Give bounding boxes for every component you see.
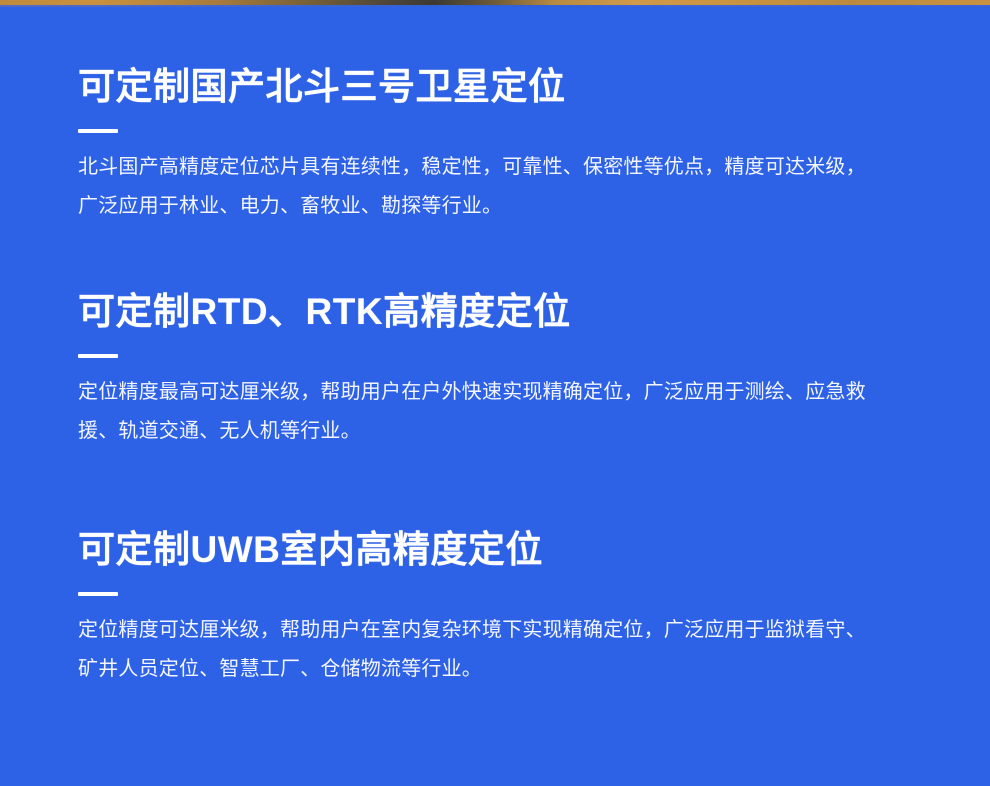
feature-panel: 可定制国产北斗三号卫星定位 北斗国产高精度定位芯片具有连续性，稳定性，可靠性、保… [0,7,990,786]
section-title: 可定制国产北斗三号卫星定位 [78,65,868,109]
section-title: 可定制UWB室内高精度定位 [78,528,878,572]
section-description: 定位精度最高可达厘米级，帮助用户在户外快速实现精确定位，广泛应用于测绘、应急救援… [78,373,878,451]
feature-section-rtd-rtk: 可定制RTD、RTK高精度定位 定位精度最高可达厘米级，帮助用户在户外快速实现精… [78,290,878,451]
section-description: 定位精度可达厘米级，帮助用户在室内复杂环境下实现精确定位，广泛应用于监狱看守、矿… [78,611,878,689]
section-description: 北斗国产高精度定位芯片具有连续性，稳定性，可靠性、保密性等优点，精度可达米级，广… [78,148,868,226]
section-title: 可定制RTD、RTK高精度定位 [78,290,878,334]
feature-section-uwb: 可定制UWB室内高精度定位 定位精度可达厘米级，帮助用户在室内复杂环境下实现精确… [78,528,878,689]
section-divider [78,129,118,133]
section-divider [78,592,118,596]
section-divider [78,354,118,358]
feature-section-beidou: 可定制国产北斗三号卫星定位 北斗国产高精度定位芯片具有连续性，稳定性，可靠性、保… [78,65,868,226]
